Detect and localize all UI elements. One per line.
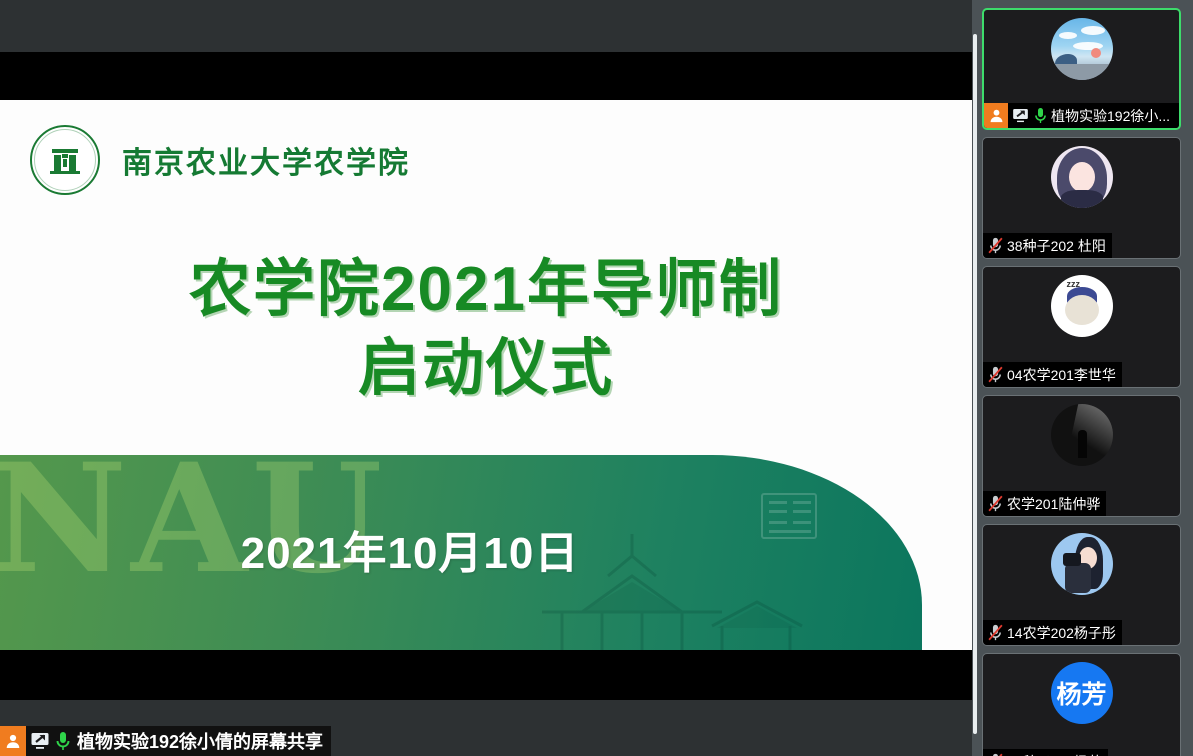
participant-tile[interactable]: 杨芳 42种子202杨芳: [982, 653, 1181, 756]
participant-name: 38种子202 杜阳: [1007, 236, 1106, 256]
participant-nameplate: 14农学202杨子彤: [983, 620, 1122, 645]
participant-name: 14农学202杨子彤: [1007, 623, 1116, 643]
top-bar: [0, 0, 972, 52]
shared-screen-region: 南京农业大学农学院 农学院2021年导师制 启动仪式 NAU: [0, 0, 972, 756]
participant-name: 植物实验192徐小...: [1051, 106, 1170, 126]
participant-name: 42种子202杨芳: [1007, 752, 1102, 756]
participants-scrollbar[interactable]: [973, 34, 977, 734]
screen-share-icon: [1011, 106, 1030, 125]
participant-nameplate: 42种子202杨芳: [983, 749, 1108, 756]
presentation-slide: 南京农业大学农学院 农学院2021年导师制 启动仪式 NAU: [0, 100, 972, 650]
avatar: [1051, 533, 1113, 595]
slide-title: 农学院2021年导师制 启动仪式: [0, 250, 972, 409]
participant-tile-list: 植物实验192徐小...: [982, 8, 1182, 756]
avatar-initials: 杨芳: [1051, 662, 1113, 724]
participant-nameplate: 农学201陆仲骅: [983, 491, 1106, 516]
participant-nameplate: 04农学201李世华: [983, 362, 1122, 387]
participant-tile[interactable]: 38种子202 杜阳: [982, 137, 1181, 259]
screen-share-status-text: 植物实验192徐小倩的屏幕共享: [77, 728, 323, 754]
avatar: [1051, 146, 1113, 208]
avatar: [1051, 18, 1113, 80]
microphone-muted-icon: [987, 365, 1004, 384]
microphone-muted-icon: [987, 752, 1004, 756]
slide-green-banner: NAU: [0, 455, 922, 650]
participant-name: 农学201陆仲骅: [1007, 494, 1100, 514]
slide-title-line1: 农学院2021年导师制: [189, 255, 783, 324]
avatar: [1051, 404, 1113, 466]
slide-title-line2: 启动仪式: [0, 329, 972, 408]
microphone-on-icon: [1033, 106, 1048, 125]
screen-share-status-bar: 植物实验192徐小倩的屏幕共享: [0, 726, 331, 756]
participant-nameplate: 38种子202 杜阳: [983, 233, 1112, 258]
participant-nameplate: 植物实验192徐小...: [984, 103, 1179, 128]
avatar: zzz: [1051, 275, 1113, 337]
event-date: 2021年10月10日: [0, 517, 860, 581]
microphone-muted-icon: [987, 494, 1004, 513]
participant-tile[interactable]: 农学201陆仲骅: [982, 395, 1181, 517]
avatar: 杨芳: [1051, 662, 1113, 724]
participant-tile[interactable]: 植物实验192徐小...: [982, 8, 1181, 130]
screen-share-icon: [29, 730, 51, 752]
participants-panel: 植物实验192徐小...: [972, 0, 1193, 756]
participant-tile[interactable]: 14农学202杨子彤: [982, 524, 1181, 646]
participant-name: 04农学201李世华: [1007, 365, 1116, 385]
microphone-muted-icon: [987, 236, 1004, 255]
slide-header: 南京农业大学农学院: [0, 120, 972, 200]
meeting-screen: 南京农业大学农学院 农学院2021年导师制 启动仪式 NAU: [0, 0, 1193, 756]
host-person-icon: [0, 726, 26, 756]
host-person-icon: [984, 103, 1008, 128]
microphone-muted-icon: [987, 623, 1004, 642]
microphone-on-icon: [54, 730, 72, 752]
institution-name: 南京农业大学农学院: [122, 138, 410, 182]
participant-tile[interactable]: zzz 04农学201李世华: [982, 266, 1181, 388]
letterbox-top: [0, 52, 972, 100]
nau-college-of-agriculture-logo-icon: [30, 125, 100, 195]
